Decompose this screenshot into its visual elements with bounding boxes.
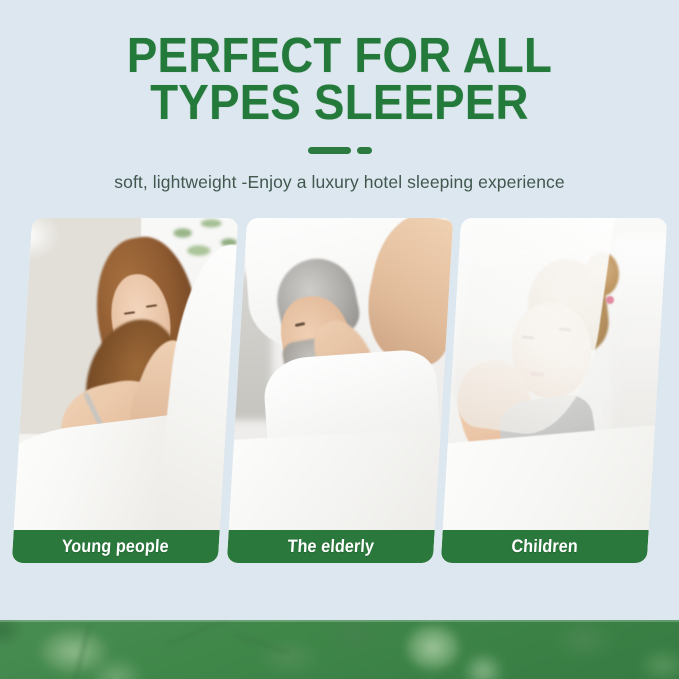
header: PERFECT FOR ALL TYPES SLEEPER soft, ligh…: [0, 0, 679, 193]
panel-label-bar: Young people: [12, 530, 220, 563]
photo-young-people: [12, 218, 238, 563]
photo-the-elderly: [226, 218, 452, 563]
page-subtitle: soft, lightweight -Enjoy a luxury hotel …: [0, 172, 679, 193]
panel-children[interactable]: Children: [451, 218, 657, 563]
sleeper-type-panels: Young people The elderly: [22, 218, 657, 563]
divider-short-segment: [357, 147, 372, 154]
panel-photo-frame: Children: [441, 218, 667, 563]
photo-children: [441, 218, 667, 563]
page-title: PERFECT FOR ALL TYPES SLEEPER: [24, 33, 655, 127]
panel-label-text: Children: [511, 536, 579, 557]
title-divider: [0, 147, 679, 154]
panel-label-bar: Children: [441, 530, 649, 563]
bottom-botanical-band: [0, 620, 679, 679]
panel-label-text: Young people: [61, 536, 169, 557]
panel-label-text: The elderly: [286, 536, 374, 557]
panel-photo-frame: Young people: [12, 218, 238, 563]
leaf-texture: [0, 620, 679, 679]
panel-young-people[interactable]: Young people: [22, 218, 228, 563]
panel-the-elderly[interactable]: The elderly: [237, 218, 443, 563]
divider-long-segment: [308, 147, 351, 154]
panel-label-bar: The elderly: [226, 530, 434, 563]
panel-photo-frame: The elderly: [226, 218, 452, 563]
band-top-highlight: [0, 620, 679, 622]
